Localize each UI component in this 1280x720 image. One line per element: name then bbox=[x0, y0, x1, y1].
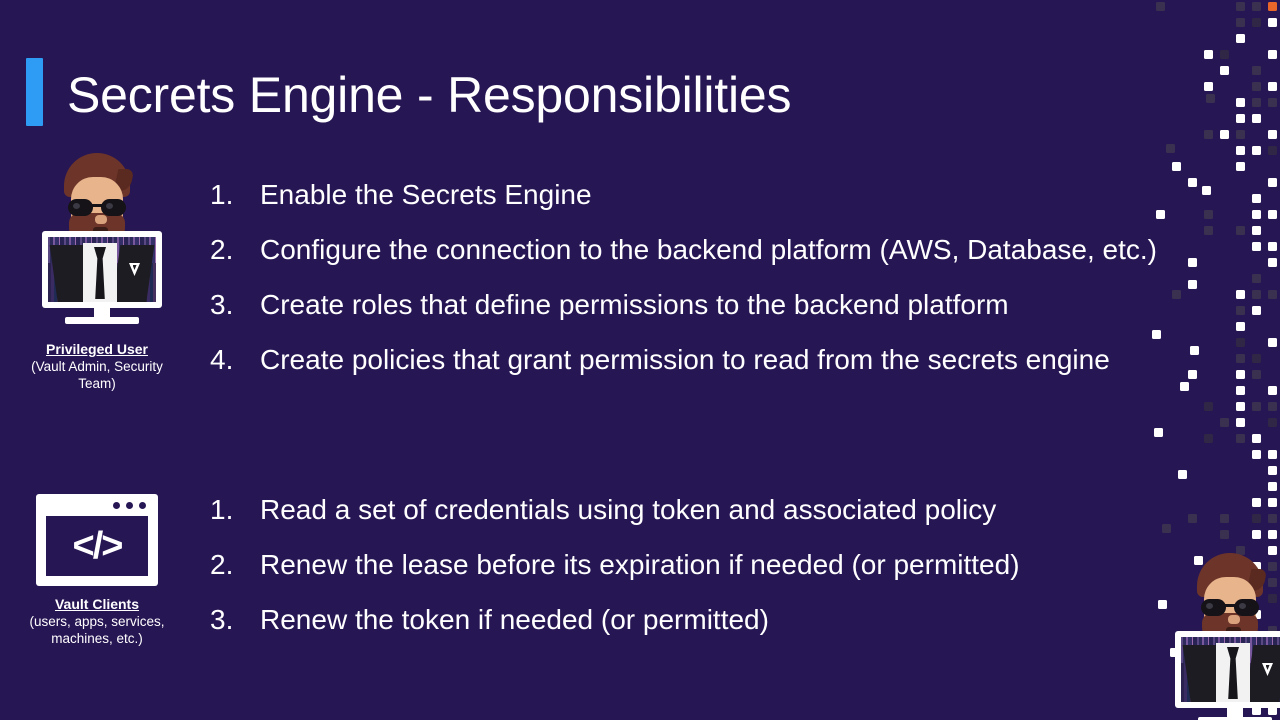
list-item-number: 3. bbox=[210, 288, 260, 322]
decoration-dot bbox=[1190, 346, 1199, 355]
decoration-dot bbox=[1188, 514, 1197, 523]
decoration-dot bbox=[1188, 258, 1197, 267]
list-item-text: Renew the lease before its expiration if… bbox=[260, 548, 1020, 582]
code-window-icon: </> bbox=[7, 490, 187, 595]
decoration-dot bbox=[1236, 338, 1245, 347]
decoration-accent-dot bbox=[1268, 2, 1277, 11]
persona-vault-clients: </> Vault Clients (users, apps, services… bbox=[7, 490, 187, 647]
privileged-user-avatar-icon bbox=[7, 145, 187, 340]
title-accent-bar bbox=[26, 58, 43, 126]
decoration-dot bbox=[1236, 162, 1245, 171]
decoration-dot bbox=[1204, 210, 1213, 219]
decoration-dot bbox=[1236, 370, 1245, 379]
avatar-sunglasses-icon bbox=[66, 199, 128, 216]
list-item-number: 4. bbox=[210, 343, 260, 377]
decoration-dot bbox=[1204, 402, 1213, 411]
decoration-dot bbox=[1252, 370, 1261, 379]
decoration-dot bbox=[1252, 450, 1261, 459]
window-dot bbox=[126, 502, 133, 509]
persona-caption-subtitle: (Vault Admin, Security Team) bbox=[7, 358, 187, 392]
list-item: 2. Configure the connection to the backe… bbox=[210, 233, 1157, 267]
decoration-dot bbox=[1236, 402, 1245, 411]
list-vault-client-responsibilities: 1. Read a set of credentials using token… bbox=[210, 493, 1020, 658]
sunglasses-lens-left bbox=[68, 199, 93, 216]
decoration-dot bbox=[1180, 382, 1189, 391]
code-glyph: </> bbox=[46, 516, 148, 576]
monitor-stand-base bbox=[65, 317, 139, 324]
decoration-dot bbox=[1252, 18, 1261, 27]
list-item: 3. Renew the token if needed (or permitt… bbox=[210, 603, 1020, 637]
decoration-dot bbox=[1236, 418, 1245, 427]
decoration-dot bbox=[1236, 2, 1245, 11]
decoration-dot bbox=[1252, 402, 1261, 411]
decoration-dot bbox=[1236, 290, 1245, 299]
list-item-number: 2. bbox=[210, 233, 260, 267]
decoration-dot bbox=[1220, 530, 1229, 539]
decoration-dot bbox=[1252, 146, 1261, 155]
monitor-screen bbox=[48, 237, 156, 302]
window-dots-icon bbox=[113, 502, 146, 509]
sunglasses-lens-left bbox=[1201, 599, 1226, 616]
sunglasses-lens-right bbox=[1234, 599, 1259, 616]
decoration-dot bbox=[1252, 114, 1261, 123]
decoration-dot bbox=[1268, 130, 1277, 139]
decoration-dot bbox=[1268, 530, 1277, 539]
decoration-dot bbox=[1236, 306, 1245, 315]
list-item-number: 3. bbox=[210, 603, 260, 637]
avatar-nose bbox=[1228, 615, 1240, 624]
decoration-dot bbox=[1202, 186, 1211, 195]
decoration-dot bbox=[1220, 130, 1229, 139]
decoration-dot bbox=[1268, 498, 1277, 507]
decoration-dot bbox=[1204, 226, 1213, 235]
decoration-dot bbox=[1268, 178, 1277, 187]
avatar-sunglasses-icon bbox=[1199, 599, 1261, 616]
decoration-dot bbox=[1252, 498, 1261, 507]
monitor-icon bbox=[42, 231, 162, 323]
decoration-dot bbox=[1166, 144, 1175, 153]
decoration-dot bbox=[1172, 162, 1181, 171]
page-title: Secrets Engine - Responsibilities bbox=[67, 64, 791, 126]
window-dot bbox=[139, 502, 146, 509]
decoration-dot bbox=[1220, 514, 1229, 523]
decoration-dot bbox=[1236, 226, 1245, 235]
decoration-dot bbox=[1252, 242, 1261, 251]
decoration-dot bbox=[1236, 18, 1245, 27]
monitor-bezel bbox=[1175, 631, 1280, 708]
corner-privileged-user-avatar-icon bbox=[1140, 545, 1280, 720]
decoration-dot bbox=[1162, 524, 1171, 533]
decoration-dot bbox=[1252, 226, 1261, 235]
decoration-dot bbox=[1188, 370, 1197, 379]
window-dot bbox=[113, 502, 120, 509]
code-window-frame: </> bbox=[36, 494, 158, 586]
decoration-dot bbox=[1268, 466, 1277, 475]
persona-caption-subtitle: (users, apps, services, machines, etc.) bbox=[7, 613, 187, 647]
list-item-text: Configure the connection to the backend … bbox=[260, 233, 1157, 267]
decoration-dot bbox=[1204, 434, 1213, 443]
decoration-dot bbox=[1204, 130, 1213, 139]
decoration-dot bbox=[1252, 434, 1261, 443]
decoration-dot bbox=[1236, 354, 1245, 363]
decoration-dot bbox=[1172, 290, 1181, 299]
list-item: 1. Read a set of credentials using token… bbox=[210, 493, 1020, 527]
decoration-dot bbox=[1188, 280, 1197, 289]
list-item: 4. Create policies that grant permission… bbox=[210, 343, 1157, 377]
decoration-dot bbox=[1252, 354, 1261, 363]
decoration-dot bbox=[1252, 194, 1261, 203]
decoration-dot bbox=[1268, 402, 1277, 411]
decoration-dot bbox=[1268, 2, 1277, 11]
list-item-number: 2. bbox=[210, 548, 260, 582]
decoration-dot bbox=[1268, 338, 1277, 347]
decoration-dot bbox=[1252, 274, 1261, 283]
avatar-nose bbox=[95, 215, 107, 224]
decoration-dot bbox=[1236, 322, 1245, 331]
persona-caption-title: Vault Clients bbox=[7, 595, 187, 613]
decoration-dot bbox=[1252, 290, 1261, 299]
decoration-dot bbox=[1236, 130, 1245, 139]
suit-right bbox=[112, 245, 155, 302]
decoration-dot bbox=[1268, 450, 1277, 459]
decoration-dot bbox=[1236, 114, 1245, 123]
decoration-dot bbox=[1252, 530, 1261, 539]
decoration-dot bbox=[1156, 2, 1165, 11]
decoration-dot bbox=[1236, 386, 1245, 395]
sunglasses-lens-right bbox=[101, 199, 126, 216]
monitor-icon bbox=[1175, 631, 1280, 720]
title-row: Secrets Engine - Responsibilities bbox=[0, 28, 1280, 112]
decoration-dot bbox=[1268, 386, 1277, 395]
list-item-text: Enable the Secrets Engine bbox=[260, 178, 592, 212]
monitor-screen bbox=[1181, 637, 1280, 702]
list-privileged-user-responsibilities: 1. Enable the Secrets Engine 2. Configur… bbox=[210, 178, 1157, 398]
persona-privileged-user: Privileged User (Vault Admin, Security T… bbox=[7, 145, 187, 392]
list-item-text: Create policies that grant permission to… bbox=[260, 343, 1110, 377]
decoration-dot bbox=[1236, 434, 1245, 443]
list-item: 1. Enable the Secrets Engine bbox=[210, 178, 1157, 212]
decoration-dot bbox=[1268, 18, 1277, 27]
list-item-number: 1. bbox=[210, 178, 260, 212]
list-item-text: Renew the token if needed (or permitted) bbox=[260, 603, 769, 637]
decoration-dot bbox=[1188, 178, 1197, 187]
monitor-bezel bbox=[42, 231, 162, 308]
decoration-dot bbox=[1268, 210, 1277, 219]
list-item-text: Create roles that define permissions to … bbox=[260, 288, 1009, 322]
list-item-number: 1. bbox=[210, 493, 260, 527]
list-item: 3. Create roles that define permissions … bbox=[210, 288, 1157, 322]
decoration-dot bbox=[1268, 290, 1277, 299]
decoration-dot bbox=[1268, 514, 1277, 523]
decoration-dot bbox=[1268, 418, 1277, 427]
persona-caption-title: Privileged User bbox=[7, 340, 187, 358]
decoration-dot bbox=[1220, 418, 1229, 427]
decoration-dot bbox=[1268, 482, 1277, 491]
decoration-dot bbox=[1268, 146, 1277, 155]
decoration-dot bbox=[1268, 258, 1277, 267]
decoration-dot bbox=[1156, 210, 1165, 219]
decoration-dot bbox=[1252, 514, 1261, 523]
slide-canvas: Secrets Engine - Responsibilities bbox=[0, 0, 1280, 720]
list-item-text: Read a set of credentials using token an… bbox=[260, 493, 996, 527]
decoration-dot bbox=[1252, 2, 1261, 11]
decoration-dot bbox=[1154, 428, 1163, 437]
decoration-dot bbox=[1236, 146, 1245, 155]
decoration-dot bbox=[1268, 242, 1277, 251]
decoration-dot bbox=[1252, 306, 1261, 315]
list-item: 2. Renew the lease before its expiration… bbox=[210, 548, 1020, 582]
avatar bbox=[1140, 545, 1280, 720]
decoration-dot bbox=[1178, 470, 1187, 479]
decoration-dot bbox=[1252, 210, 1261, 219]
